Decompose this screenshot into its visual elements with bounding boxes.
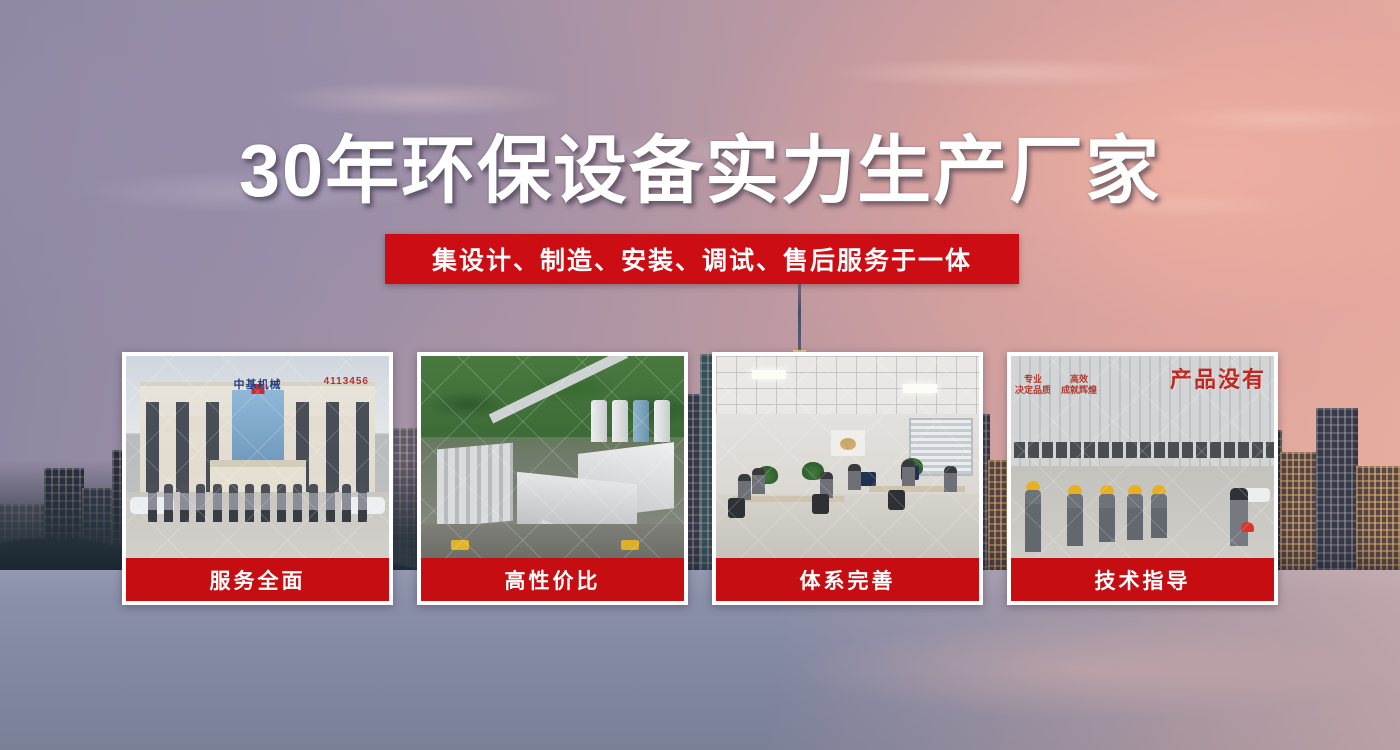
feature-card[interactable]: 中基机械 4113456 服务全面 <box>122 352 393 605</box>
card-caption: 服务全面 <box>126 558 389 601</box>
aerial-production-plant-photo <box>421 356 684 558</box>
card-caption: 技术指导 <box>1011 558 1274 601</box>
feature-card[interactable]: 体系完善 <box>712 352 983 605</box>
company-phone-text: 4113456 <box>324 376 369 387</box>
feature-card[interactable]: 高性价比 <box>417 352 688 605</box>
feature-card-list: 中基机械 4113456 服务全面 <box>122 352 1278 605</box>
promo-banner-stage: 30年环保设备实力生产厂家 集设计、制造、安装、调试、售后服务于一体 中基机械 … <box>0 0 1400 750</box>
page-title: 30年环保设备实力生产厂家 <box>0 132 1400 210</box>
factory-slogan-2: 高效 <box>1061 374 1097 385</box>
subtitle-banner: 集设计、制造、安装、调试、售后服务于一体 <box>385 234 1019 284</box>
feature-card[interactable]: 产品没有 专业 决定品质 高效 成就辉煌 <box>1007 352 1278 605</box>
factory-wall-banner-text: 产品没有 <box>1170 362 1266 394</box>
company-headquarters-photo: 中基机械 4113456 <box>126 356 389 558</box>
office-interior-photo <box>716 356 979 558</box>
card-caption: 体系完善 <box>716 558 979 601</box>
card-caption: 高性价比 <box>421 558 684 601</box>
factory-slogan-1-sub: 决定品质 <box>1015 385 1051 396</box>
card-caption-label: 技术指导 <box>1095 565 1191 595</box>
factory-slogan-2-sub: 成就辉煌 <box>1061 385 1097 396</box>
card-caption-label: 服务全面 <box>210 565 306 595</box>
card-caption-label: 高性价比 <box>505 565 601 595</box>
factory-workers-training-photo: 产品没有 专业 决定品质 高效 成就辉煌 <box>1011 356 1274 558</box>
factory-slogan-1: 专业 <box>1015 374 1051 385</box>
card-caption-label: 体系完善 <box>800 565 896 595</box>
subtitle-text: 集设计、制造、安装、调试、售后服务于一体 <box>432 241 972 277</box>
